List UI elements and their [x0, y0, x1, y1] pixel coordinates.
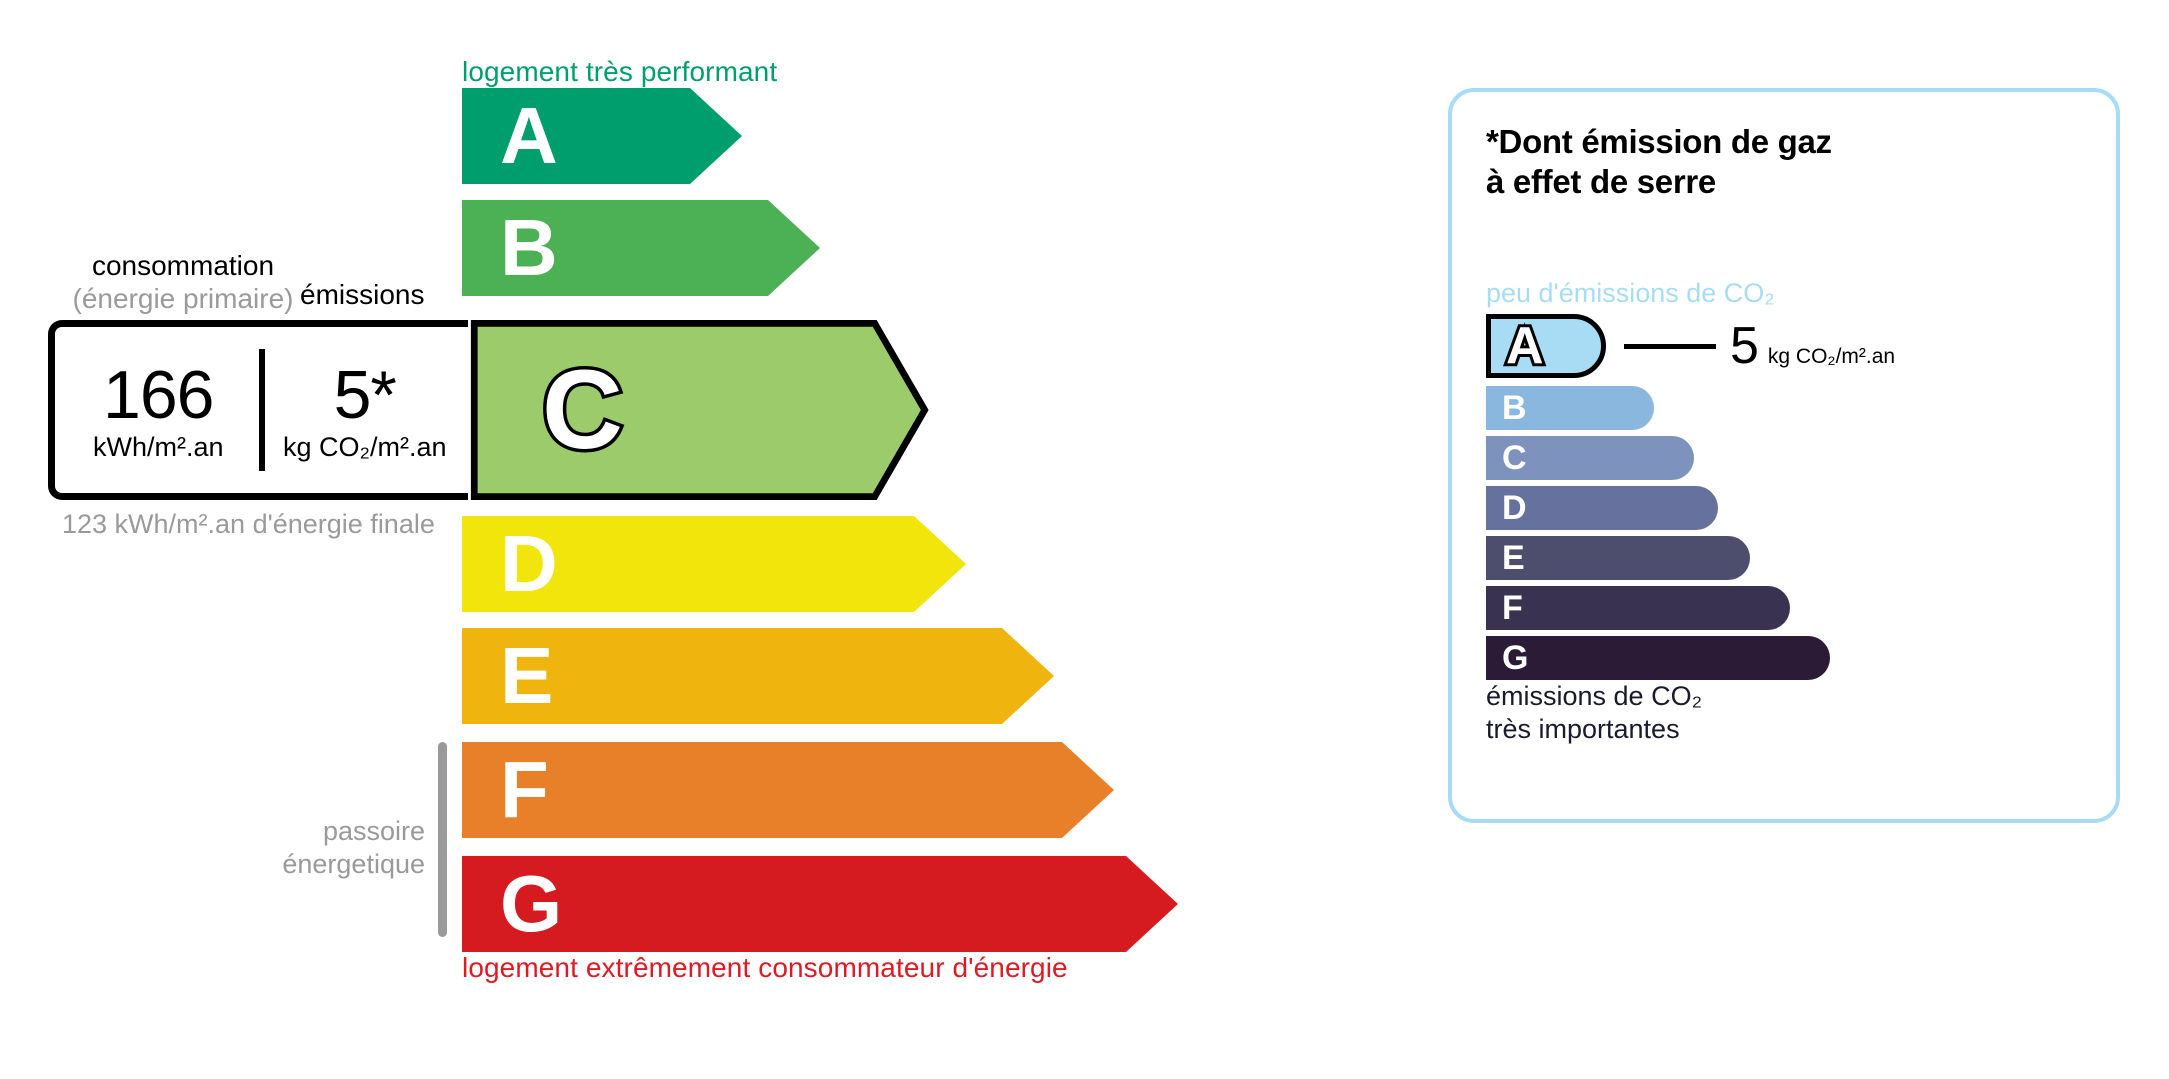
energy-band-shape — [462, 200, 820, 296]
energy-band-f[interactable]: F — [462, 742, 1114, 838]
consommation-label-sub: (énergie primaire) — [68, 283, 298, 315]
ges-bar-list: A5kg CO₂/m².anBCDEFG — [1486, 314, 2086, 684]
primary-energy-value: 166 — [103, 363, 213, 428]
energy-band-a[interactable]: A — [462, 88, 742, 184]
ges-panel: *Dont émission de gaz à effet de serre p… — [1448, 88, 2120, 823]
ges-bar-fill — [1486, 314, 1606, 378]
energy-band-shape — [462, 856, 1178, 952]
energy-band-d[interactable]: D — [462, 516, 966, 612]
final-energy-note: 123 kWh/m².an d'énergie finale — [62, 508, 435, 542]
energy-band-shape — [462, 320, 937, 500]
energy-bottom-caption: logement extrêmement consommateur d'éner… — [462, 952, 1068, 984]
ges-top-caption: peu d'émissions de CO₂ — [1486, 278, 1775, 309]
ges-bar-fill — [1486, 586, 1790, 630]
co2-unit: kg CO₂/m².an — [283, 432, 447, 463]
energy-performance-section: logement très performant ABCDEFG 166 kWh… — [0, 0, 1400, 1079]
primary-energy-unit: kWh/m².an — [93, 432, 224, 463]
emissions-label: émissions — [300, 279, 424, 311]
energy-band-c[interactable]: C — [462, 320, 930, 500]
consommation-label: consommation (énergie primaire) — [68, 250, 298, 315]
ges-bar-g[interactable]: G — [1486, 636, 2086, 680]
energy-band-e[interactable]: E — [462, 628, 1054, 724]
energy-band-shape — [462, 628, 1054, 724]
ges-bar-d[interactable]: D — [1486, 486, 2086, 530]
ges-bottom-caption: émissions de CO₂ très importantes — [1486, 680, 1702, 746]
primary-energy-cell: 166 kWh/m².an — [55, 327, 262, 493]
ges-bar-fill — [1486, 536, 1750, 580]
dpe-label: logement très performant ABCDEFG 166 kWh… — [0, 0, 2169, 1079]
ges-bar-letter: B — [1502, 391, 1527, 425]
ges-bar-letter: F — [1502, 591, 1523, 625]
ges-bar-b[interactable]: B — [1486, 386, 2086, 430]
ges-bar-letter: G — [1502, 641, 1528, 675]
ges-bar-letter: D — [1502, 491, 1527, 525]
ges-bar-letter: C — [1502, 441, 1527, 475]
ges-bar-fill — [1486, 636, 1830, 680]
ges-bar-a[interactable]: A5kg CO₂/m².an — [1486, 314, 2086, 378]
co2-value-cell: 5* kg CO₂/m².an — [262, 327, 469, 493]
ges-value-unit: kg CO₂/m².an — [1768, 346, 1895, 367]
ges-bar-letter: A — [1506, 320, 1544, 372]
ges-value-group: 5kg CO₂/m².an — [1730, 320, 1895, 372]
energy-band-shape — [462, 516, 966, 612]
energy-band-shape — [462, 742, 1114, 838]
energy-band-g[interactable]: G — [462, 856, 1178, 952]
passoire-energetique-label: passoire énergetique — [250, 815, 425, 881]
ges-bar-f[interactable]: F — [1486, 586, 2086, 630]
passoire-energetique-marker — [438, 742, 447, 937]
ges-leader-line — [1624, 344, 1716, 349]
energy-value-box: 166 kWh/m².an 5* kg CO₂/m².an — [48, 320, 468, 500]
ges-bar-c[interactable]: C — [1486, 436, 2086, 480]
energy-band-b[interactable]: B — [462, 200, 820, 296]
ges-value-number: 5 — [1730, 320, 1759, 372]
ges-bar-e[interactable]: E — [1486, 536, 2086, 580]
ges-bar-letter: E — [1502, 541, 1525, 575]
ges-title: *Dont émission de gaz à effet de serre — [1486, 122, 1832, 203]
co2-value: 5* — [334, 363, 396, 428]
energy-band-shape — [462, 88, 742, 184]
consommation-label-main: consommation — [92, 250, 274, 281]
